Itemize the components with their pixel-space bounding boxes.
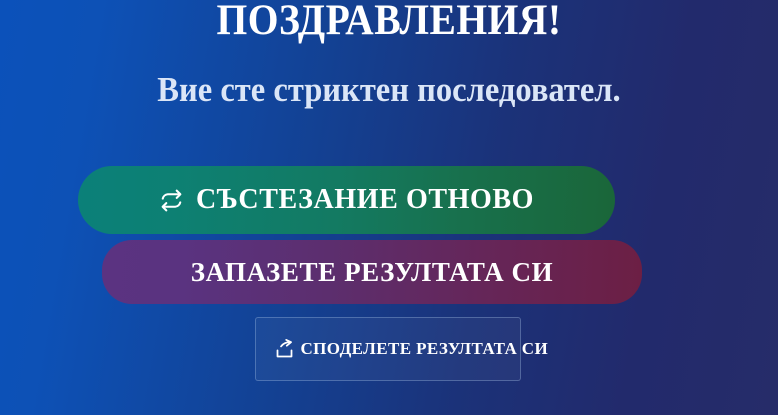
share-score-label: СПОДЕЛЕТЕ РЕЗУЛТАТА СИ bbox=[301, 337, 501, 362]
play-again-button[interactable]: СЪСТЕЗАНИЕ ОТНОВО bbox=[78, 166, 615, 234]
result-subtitle: Вие сте стриктен последовател. bbox=[27, 70, 751, 110]
save-score-button[interactable]: ЗАПАЗЕТЕ РЕЗУЛТАТА СИ bbox=[102, 240, 642, 304]
repeat-icon bbox=[159, 188, 184, 213]
play-again-label: СЪСТЕЗАНИЕ ОТНОВО bbox=[196, 184, 534, 216]
save-score-label: ЗАПАЗЕТЕ РЕЗУЛТАТА СИ bbox=[191, 257, 554, 288]
page-title: ПОЗДРАВЛЕНИЯ! bbox=[31, 0, 747, 45]
share-icon bbox=[274, 339, 295, 360]
results-screen: ПОЗДРАВЛЕНИЯ! Вие сте стриктен последова… bbox=[0, 0, 778, 415]
share-score-button[interactable]: СПОДЕЛЕТЕ РЕЗУЛТАТА СИ bbox=[255, 317, 521, 381]
